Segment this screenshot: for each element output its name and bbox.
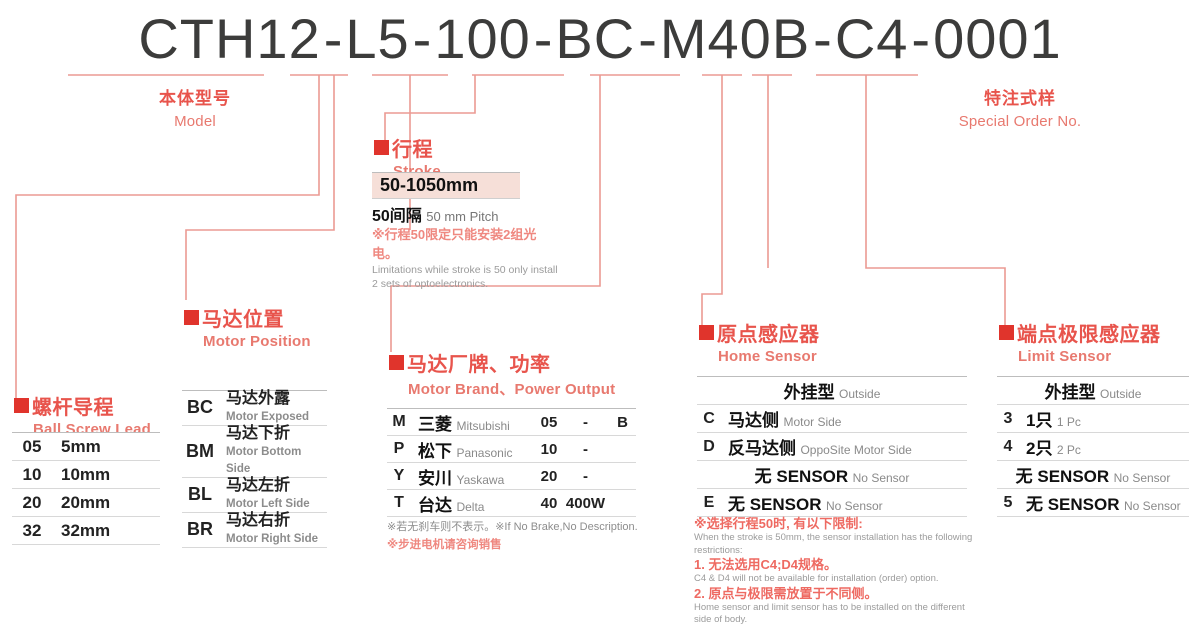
cell-key: E [697, 489, 721, 517]
group-home-sensor-en: Home Sensor [718, 348, 820, 365]
cell-key: T [387, 490, 411, 517]
header-no-sensor-cn: 无 SENSOR [1016, 467, 1110, 486]
cell-value-cn: 反马达侧 [728, 439, 796, 458]
bullet-square-icon [999, 325, 1014, 340]
cell-value: 马达右折 Motor Right Side [218, 512, 327, 547]
cell-brand: 三菱 Mitsubishi [411, 409, 536, 436]
note-item1-en: C4 & D4 will not be available for instal… [694, 573, 974, 585]
cell-power-value: - [562, 409, 609, 436]
label-special-order-en: Special Order No. [925, 113, 1115, 130]
header-no-sensor-en: No Sensor [853, 471, 910, 485]
table-row: C 马达侧 Motor Side [697, 405, 967, 433]
motor-position-table: BC 马达外露 Motor Exposed BM 马达下折 Motor Bott… [182, 390, 327, 548]
motor-brand-note-2: ※步进电机请咨询销售 [387, 536, 649, 552]
home-sensor-notes: ※选择行程50时, 有以下限制: When the stroke is 50mm… [694, 516, 974, 626]
cell-brand-cn: 三菱 [418, 415, 452, 434]
cell-brand-en: Mitsubishi [456, 419, 509, 433]
group-motor-position: 马达位置 Motor Position [184, 310, 311, 350]
cell-key: BM [182, 425, 218, 477]
cell-value: 2只 2 Pc [1019, 433, 1189, 461]
group-motor-position-en: Motor Position [203, 333, 311, 350]
cell-value: 10mm [52, 461, 160, 489]
table-row: 05 5mm [12, 433, 160, 461]
bullet-square-icon [184, 310, 199, 325]
limit-sensor-table: 外挂型 Outside 3 1只 1 Pc 4 2只 2 Pc 无 SENSOR… [997, 376, 1189, 517]
stroke-note-cn: ※行程50限定只能安装2组光电。 [372, 224, 562, 262]
note-item1-cn: 1. 无法选用C4;D4规格。 [694, 557, 974, 573]
stroke-pitch-en: 50 mm Pitch [426, 209, 498, 224]
code-segment-special-order: 0001 [933, 6, 1062, 72]
group-limit-sensor-cn: 端点极限感应器 [1017, 325, 1161, 345]
code-separator: - [410, 6, 435, 72]
cell-value-en: Motor Side [783, 415, 841, 429]
cell-power-code: 20 [536, 463, 562, 490]
cell-brand: 安川 Yaskawa [411, 463, 536, 490]
cell-brake-code [609, 463, 636, 490]
cell-key: BL [182, 477, 218, 512]
code-segment-sensor: C4 [835, 6, 909, 72]
cell-brand-en: Yaskawa [456, 473, 504, 487]
table-row: E 无 SENSOR No Sensor [697, 489, 967, 517]
motor-brand-note-1: ※若无刹车则不表示。※If No Brake,No Description. [387, 518, 649, 534]
header-outside-en: Outside [1100, 387, 1141, 401]
group-motor-brand-cn: 马达厂牌、功率 [407, 355, 551, 375]
cell-brand: 台达 Delta [411, 490, 536, 517]
group-limit-sensor: 端点极限感应器 Limit Sensor [999, 325, 1161, 365]
cell-key: Y [387, 463, 411, 490]
cell-value-cn: 马达侧 [728, 411, 779, 430]
label-special-order-cn: 特注式样 [925, 84, 1115, 109]
code-segment-stroke: 100 [434, 6, 530, 72]
home-sensor-table: 外挂型 Outside C 马达侧 Motor Side D 反马达侧 Oppo… [697, 376, 967, 517]
cell-value-en: 2 Pc [1057, 443, 1081, 457]
cell-value-cn: 无 SENSOR [1026, 495, 1120, 514]
table-row: T 台达 Delta 40 400W [387, 490, 636, 517]
bullet-square-icon [389, 355, 404, 370]
cell-value: 反马达侧 OppoSite Motor Side [721, 433, 967, 461]
table-row: BC 马达外露 Motor Exposed [182, 391, 327, 426]
cell-value: 马达下折 Motor Bottom Side [218, 425, 327, 477]
table-row: 4 2只 2 Pc [997, 433, 1189, 461]
stroke-note: ※行程50限定只能安装2组光电。 Limitations while strok… [372, 224, 562, 292]
cell-value-cn: 无 SENSOR [728, 495, 822, 514]
stroke-range-value: 50-1050mm [372, 173, 520, 198]
cell-power-code: 05 [536, 409, 562, 436]
table-row: 5 无 SENSOR No Sensor [997, 489, 1189, 517]
cell-key: BR [182, 512, 218, 547]
table-row-header: 无 SENSOR No Sensor [997, 461, 1189, 489]
table-row: 3 1只 1 Pc [997, 405, 1189, 433]
header-outside-cn: 外挂型 [784, 383, 835, 402]
cell-brand-en: Delta [456, 500, 484, 514]
header-no-sensor: 无 SENSOR No Sensor [997, 461, 1189, 489]
group-home-sensor-cn: 原点感应器 [717, 325, 820, 345]
cell-value-cn: 1只 [1026, 411, 1052, 430]
table-row: BL 马达左折 Motor Left Side [182, 477, 327, 512]
cell-brake-code: B [609, 409, 636, 436]
code-segment-model: CTH12 [138, 6, 320, 72]
bullet-square-icon [699, 325, 714, 340]
cell-key: D [697, 433, 721, 461]
label-special-order: 特注式样 Special Order No. [925, 84, 1115, 130]
cell-brand-cn: 安川 [418, 469, 452, 488]
cell-value-cn: 马达下折 [226, 425, 290, 442]
table-row: BR 马达右折 Motor Right Side [182, 512, 327, 547]
cell-value: 无 SENSOR No Sensor [721, 489, 967, 517]
label-model-en: Model [110, 113, 280, 130]
cell-key: 10 [12, 461, 52, 489]
cell-value-en: Motor Exposed [226, 411, 309, 423]
label-model: 本体型号 Model [110, 84, 280, 130]
group-motor-position-cn: 马达位置 [202, 310, 284, 330]
table-row: Y 安川 Yaskawa 20 - [387, 463, 636, 490]
group-limit-sensor-en: Limit Sensor [1018, 348, 1161, 365]
header-outside-cn: 外挂型 [1045, 383, 1096, 402]
group-ball-screw-lead-cn: 螺杆导程 [32, 398, 114, 418]
group-stroke-cn: 行程 [392, 140, 433, 160]
cell-value-en: Motor Right Side [226, 533, 318, 545]
table-row: M 三菱 Mitsubishi 05 - B [387, 409, 636, 436]
header-no-sensor-cn: 无 SENSOR [755, 467, 849, 486]
cell-value: 20mm [52, 489, 160, 517]
cell-value-cn: 马达左折 [226, 477, 290, 494]
bullet-square-icon [374, 140, 389, 155]
stroke-range-box: 50-1050mm [372, 172, 520, 199]
table-row-header: 外挂型 Outside [697, 377, 967, 405]
cell-key: 5 [997, 489, 1019, 517]
stroke-pitch-cn: 50间隔 [372, 208, 422, 225]
label-model-cn: 本体型号 [110, 84, 280, 109]
code-segment-motor-brand: M40B [660, 6, 810, 72]
cell-brand: 松下 Panasonic [411, 436, 536, 463]
bullet-square-icon [14, 398, 29, 413]
cell-value: 马达外露 Motor Exposed [218, 391, 327, 426]
header-outside: 外挂型 Outside [697, 377, 967, 405]
cell-key: 4 [997, 433, 1019, 461]
cell-brake-code [609, 436, 636, 463]
cell-brand-cn: 松下 [418, 442, 452, 461]
note-title-cn: ※选择行程50时, 有以下限制: [694, 516, 974, 532]
code-segment-motor-position: BC [555, 6, 635, 72]
cell-power-value: 400W [562, 490, 609, 517]
cell-value: 马达侧 Motor Side [721, 405, 967, 433]
cell-key: 20 [12, 489, 52, 517]
cell-value-en: Motor Left Side [226, 498, 310, 510]
cell-value: 无 SENSOR No Sensor [1019, 489, 1189, 517]
note-item2-cn: 2. 原点与极限需放置于不同侧。 [694, 586, 974, 602]
table-row: 10 10mm [12, 461, 160, 489]
cell-value-en: 1 Pc [1057, 415, 1081, 429]
motor-brand-notes: ※若无刹车则不表示。※If No Brake,No Description. ※… [387, 518, 649, 552]
cell-value: 马达左折 Motor Left Side [218, 477, 327, 512]
cell-key: 32 [12, 517, 52, 545]
table-row: D 反马达侧 OppoSite Motor Side [697, 433, 967, 461]
note-item2-en: Home sensor and limit sensor has to be i… [694, 602, 974, 626]
cell-brand-cn: 台达 [418, 496, 452, 515]
cell-value: 1只 1 Pc [1019, 405, 1189, 433]
header-no-sensor: 无 SENSOR No Sensor [697, 461, 967, 489]
cell-power-value: - [562, 463, 609, 490]
code-segment-lead: L5 [345, 6, 409, 72]
code-separator: - [531, 6, 556, 72]
table-row: BM 马达下折 Motor Bottom Side [182, 425, 327, 477]
cell-power-value: - [562, 436, 609, 463]
note-title-en: When the stroke is 50mm, the sensor inst… [694, 532, 974, 557]
cell-value-en: Motor Bottom Side [226, 446, 301, 475]
code-separator: - [321, 6, 346, 72]
cell-value-cn: 2只 [1026, 439, 1052, 458]
code-separator: - [635, 6, 660, 72]
header-outside: 外挂型 Outside [997, 377, 1189, 405]
cell-key: M [387, 409, 411, 436]
table-row: P 松下 Panasonic 10 - [387, 436, 636, 463]
cell-key: 3 [997, 405, 1019, 433]
cell-power-code: 10 [536, 436, 562, 463]
cell-key: 05 [12, 433, 52, 461]
code-separator: - [810, 6, 835, 72]
group-motor-brand-en: Motor Brand、Power Output [408, 378, 615, 399]
cell-value-cn: 马达外露 [226, 390, 290, 407]
cell-value: 32mm [52, 517, 160, 545]
cell-key: BC [182, 391, 218, 426]
group-motor-brand: 马达厂牌、功率 Motor Brand、Power Output [389, 355, 615, 399]
stroke-note-en: Limitations while stroke is 50 only inst… [372, 264, 562, 292]
cell-power-code: 40 [536, 490, 562, 517]
cell-key: C [697, 405, 721, 433]
cell-value-en: OppoSite Motor Side [800, 443, 911, 457]
motor-brand-table: M 三菱 Mitsubishi 05 - B P 松下 Panasonic 10… [387, 408, 636, 517]
cell-value-en: No Sensor [826, 499, 883, 513]
cell-key: P [387, 436, 411, 463]
table-row: 32 32mm [12, 517, 160, 545]
table-row-header: 外挂型 Outside [997, 377, 1189, 405]
stroke-pitch: 50间隔 50 mm Pitch [372, 202, 499, 226]
cell-value-cn: 马达右折 [226, 512, 290, 529]
cell-brand-en: Panasonic [456, 446, 512, 460]
cell-value: 5mm [52, 433, 160, 461]
model-code-line: CTH12-L5-100-BC-M40B-C4-0001 [0, 6, 1200, 74]
ball-screw-lead-table: 05 5mm 10 10mm 20 20mm 32 32mm [12, 432, 160, 545]
cell-value-en: No Sensor [1124, 499, 1181, 513]
table-row: 20 20mm [12, 489, 160, 517]
header-outside-en: Outside [839, 387, 880, 401]
code-separator: - [908, 6, 933, 72]
group-home-sensor: 原点感应器 Home Sensor [699, 325, 820, 365]
table-row-header: 无 SENSOR No Sensor [697, 461, 967, 489]
cell-brake-code [609, 490, 636, 517]
header-no-sensor-en: No Sensor [1114, 471, 1171, 485]
